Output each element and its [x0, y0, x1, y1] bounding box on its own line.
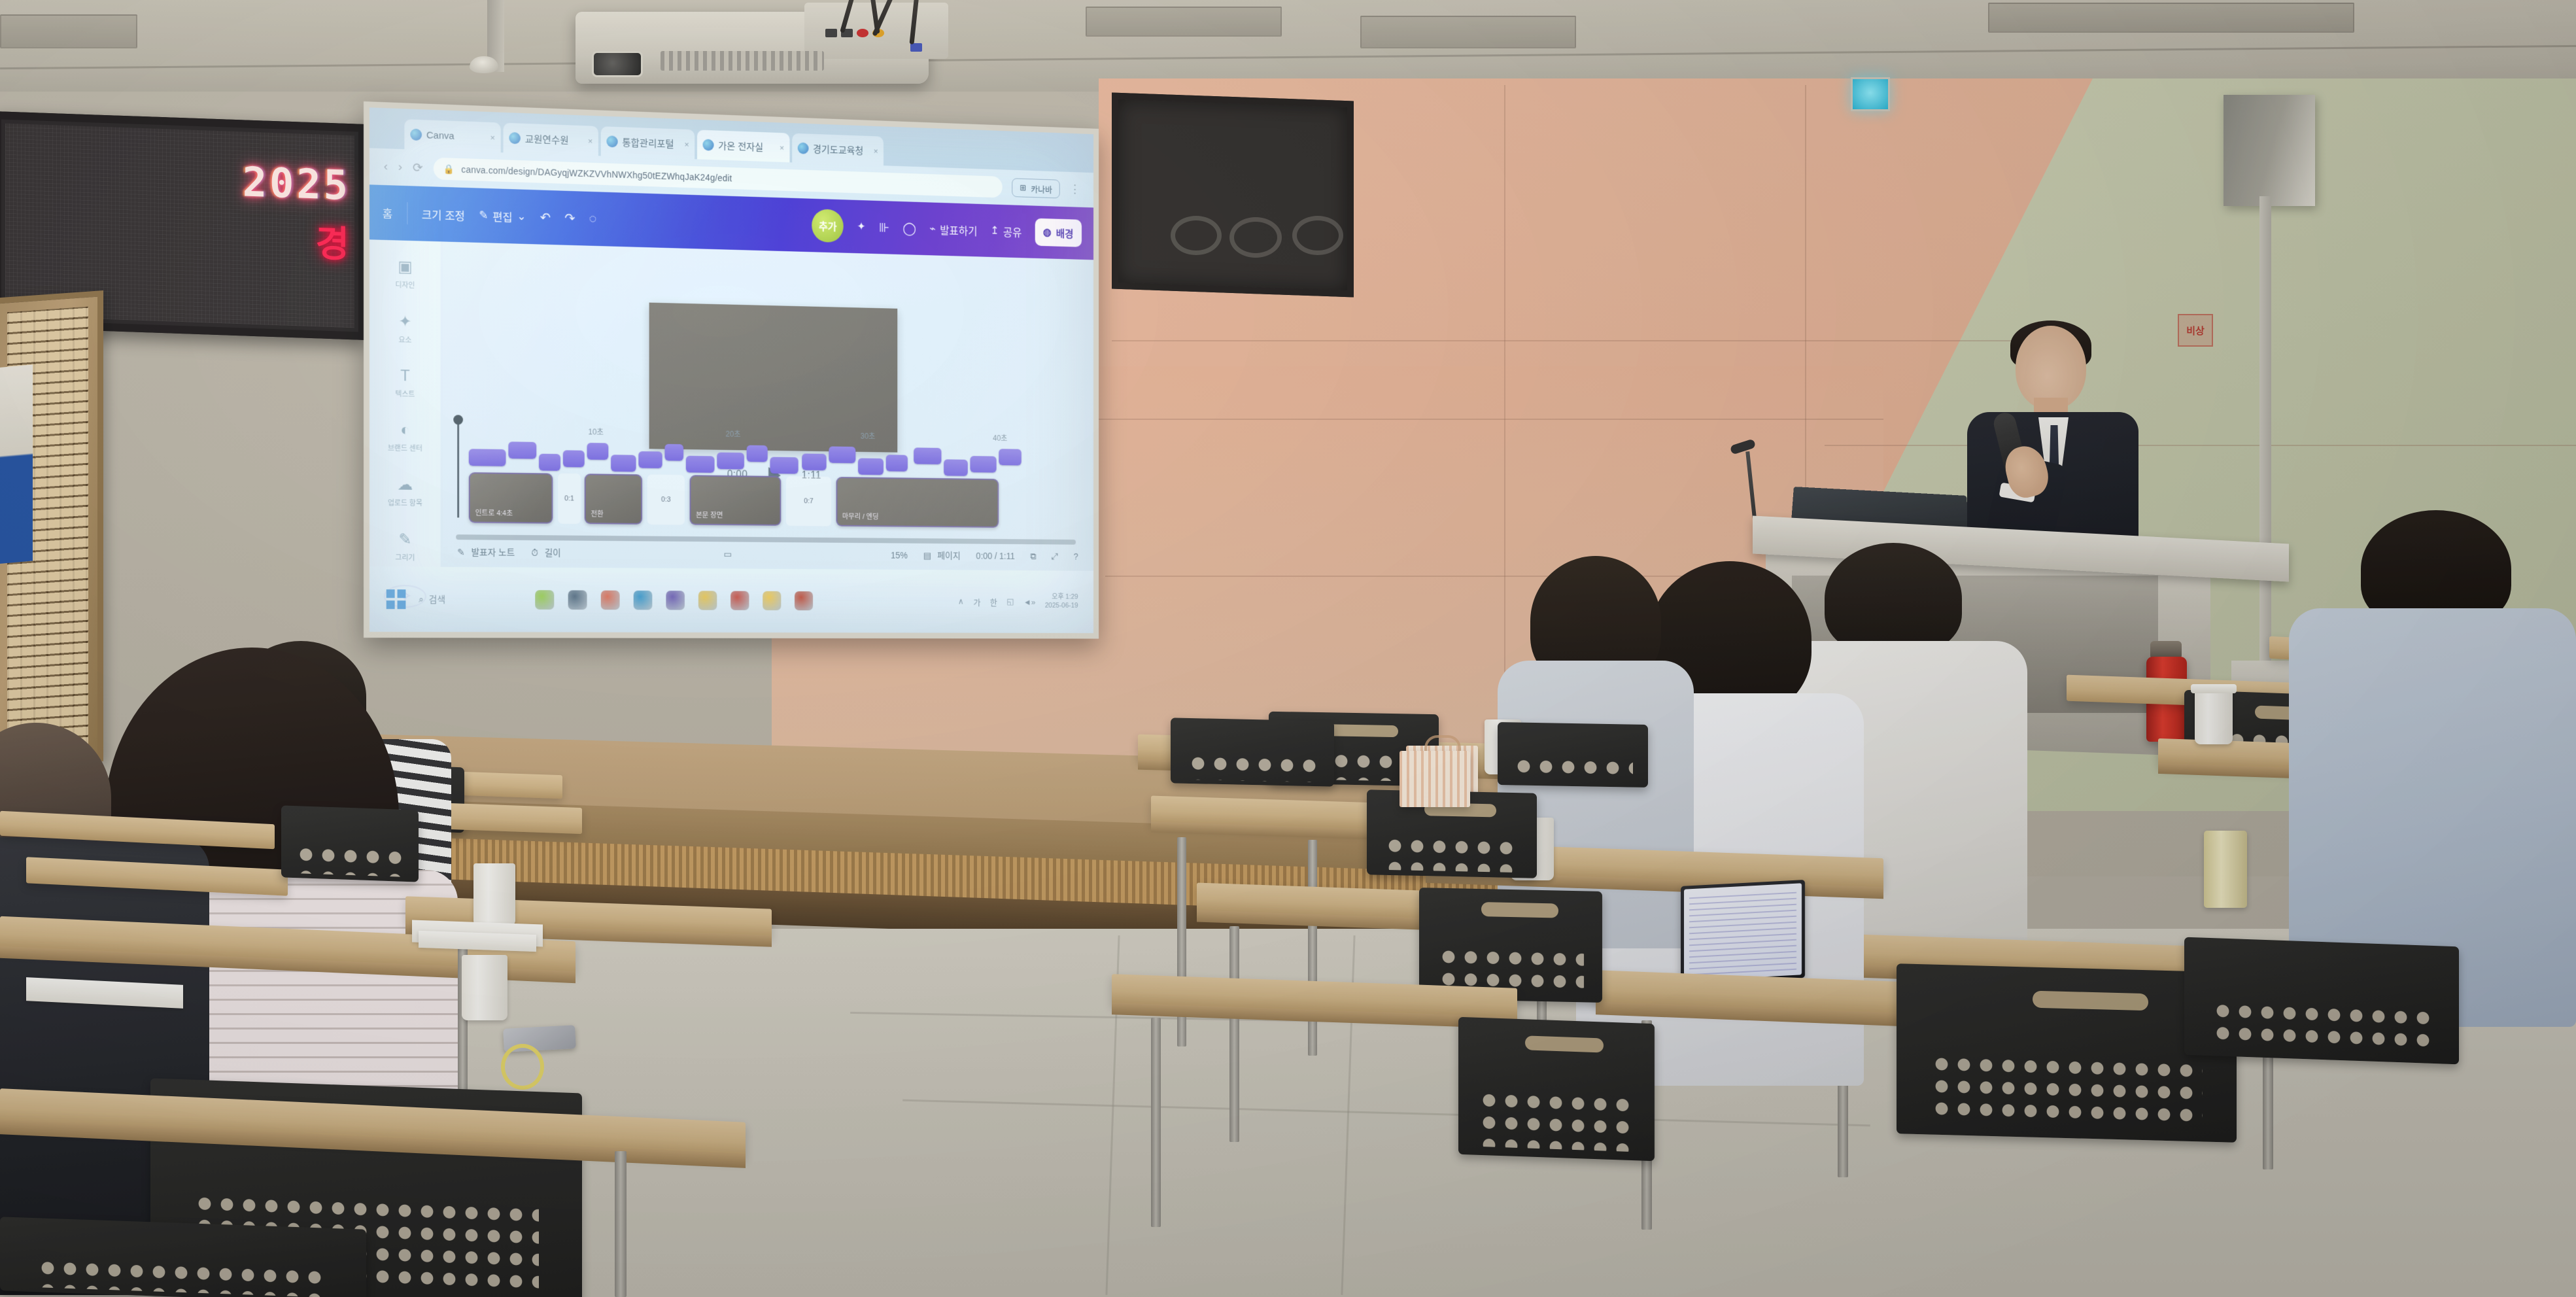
tab-label: 경기도교육청 [813, 142, 863, 157]
install-app-button[interactable]: ⊞ 카나바 [1012, 178, 1059, 198]
timeline-text-chip[interactable] [587, 443, 609, 460]
gift-box [1400, 751, 1470, 807]
sidebar-item-uploads[interactable]: ☁ 업로드 항목 [388, 475, 422, 508]
sidebar-label: 요소 [398, 334, 411, 345]
chair-perforation [1384, 834, 1520, 873]
chair-handle-slot [1525, 1036, 1604, 1053]
edge-icon[interactable] [633, 591, 652, 610]
ceiling-vent [1360, 16, 1576, 48]
timeline-text-chip[interactable] [829, 446, 855, 463]
chair-perforation [37, 1256, 330, 1297]
chrome2-icon[interactable] [730, 591, 749, 610]
favicon-icon [606, 135, 617, 147]
browser-tab-4[interactable]: 경기도교육청 × [792, 133, 884, 165]
ceiling-dome-light [470, 56, 498, 73]
chair [281, 805, 419, 882]
edit-label: 편집 [492, 208, 513, 225]
forward-icon[interactable]: › [398, 160, 402, 175]
timeline-clip[interactable]: 마무리 / 엔딩 [836, 477, 999, 528]
present-glyph-icon: ⌁ [929, 222, 935, 235]
ime-indicator[interactable]: 가 [973, 596, 980, 608]
sidebar-item-brand[interactable]: ◐ 브랜드 센터 [388, 421, 422, 454]
beverage-can [2204, 831, 2247, 908]
browser-tab-0[interactable]: Canva × [404, 119, 500, 152]
text-icon: T [400, 367, 409, 385]
sidebar-item-design[interactable]: ▣ 디자인 [395, 257, 415, 290]
share-icon: ↥ [991, 224, 999, 237]
taskbar-app-icons [535, 590, 813, 610]
chair [1171, 718, 1334, 786]
paper-cup [2195, 688, 2233, 744]
projector-port [825, 29, 837, 37]
timeline-gap[interactable]: 0:1 [558, 474, 581, 524]
canva-status-bar: ✎ 발표자 노트 ⏱ 길이 ▭ 15% ▤ 페이지 0:00 / 1:11 ⧉ … [441, 537, 1093, 571]
chair-perforation [295, 843, 405, 877]
wall-board-ring [1292, 216, 1343, 255]
duration-label: 길이 [545, 546, 561, 559]
system-tray: ∧ 가 한 ◱ ◄» 오후 1:29 2025-06-19 [958, 593, 1078, 610]
teams-icon[interactable] [666, 591, 685, 610]
sparkle-icon[interactable]: ✦ [857, 220, 865, 233]
timeline-text-chip[interactable] [469, 449, 506, 466]
file-explorer-icon[interactable] [568, 590, 587, 610]
lanyard-ring [501, 1044, 544, 1090]
redo-icon[interactable]: ↷ [564, 210, 575, 226]
canva-timeline: 10초 20초 30초 40초 인트로 4:4초전환본문 장면마무리 / 엔딩0… [441, 420, 1093, 540]
start-button-icon[interactable] [386, 589, 406, 609]
tab-label: Canva [426, 130, 455, 141]
chair [0, 1217, 366, 1297]
clock-time: 오후 1:29 [1045, 593, 1078, 602]
timeline-mark-30s: 30초 [861, 430, 876, 441]
add-page-icon[interactable]: ▭ [723, 549, 732, 560]
tab-label: 가온 전자실 [718, 139, 763, 154]
reload-icon[interactable]: ⟳ [413, 160, 423, 175]
tablet[interactable] [1681, 880, 1805, 984]
timeline-clip[interactable]: 인트로 4:4초 [469, 472, 553, 524]
chair-perforation [2212, 999, 2431, 1056]
timeline-text-chip[interactable] [664, 444, 683, 461]
chrome-icon[interactable] [698, 591, 716, 610]
favicon-icon [410, 129, 422, 141]
sidebar-label: 브랜드 센터 [388, 443, 422, 454]
timeline-text-chip[interactable] [970, 456, 996, 472]
wall-mounted-speaker [2224, 95, 2315, 206]
timeline-clip-label: 전환 [591, 509, 603, 519]
taskbar-clock[interactable]: 오후 1:29 2025-06-19 [1045, 593, 1078, 610]
notes-label: 발표자 노트 [471, 545, 515, 559]
sidebar-item-draw[interactable]: ✎ 그리기 [395, 530, 415, 562]
zoom-level[interactable]: 15% [891, 550, 908, 561]
ceiling-vent [1988, 3, 2354, 33]
timeline-text-chip[interactable] [770, 457, 798, 474]
timeline-clip-label: 인트로 4:4초 [475, 508, 513, 518]
timeline-text-chip[interactable] [999, 449, 1022, 465]
sidebar-item-text[interactable]: T 텍스트 [395, 367, 415, 399]
chair-perforation [1478, 1089, 1635, 1152]
panel-seam [1112, 340, 2060, 341]
desk-leg [615, 1151, 627, 1297]
timeline-clip[interactable]: 본문 장면 [690, 475, 781, 526]
projection-screen: Canva × 교원연수원 × 통합관리포털 × 가온 전자실 × [364, 101, 1099, 639]
background-swatch-icon: ◍ [1043, 226, 1052, 239]
led-sign-char: 경 [315, 214, 349, 268]
toolbar-divider [407, 202, 407, 224]
notes-pencil-icon: ✎ [457, 547, 465, 558]
panel-seam [1825, 445, 2576, 446]
timeline-clip-label: 본문 장면 [696, 510, 723, 520]
timeline-gap[interactable]: 0:7 [786, 476, 831, 526]
chair [2184, 937, 2459, 1065]
chair-handle-slot [1326, 724, 1398, 737]
copilot-icon[interactable] [535, 590, 554, 610]
timeline-mark-20s: 20초 [726, 428, 741, 440]
timeline-text-chip[interactable] [717, 453, 744, 470]
timeline-text-chip[interactable] [944, 459, 968, 476]
wall-board-ring [1171, 216, 1222, 255]
presenter-head [2016, 326, 2086, 409]
speaker-notes-button[interactable]: ✎ 발표자 노트 [457, 545, 515, 559]
chair-perforation [1513, 755, 1633, 784]
comment-icon[interactable]: ◯ [902, 220, 916, 237]
duration-clock-icon: ⏱ [531, 547, 538, 558]
desk-leg [1151, 1018, 1161, 1227]
tab-close-icon[interactable]: × [588, 136, 592, 146]
back-icon[interactable]: ‹ [384, 160, 388, 174]
canva-sidebar-rail: ▣ 디자인 ✦ 요소 T 텍스트 ◐ 브랜드 센터 ☁ 업로드 항목 [369, 239, 441, 566]
ime-mode-indicator[interactable]: 한 [990, 596, 997, 608]
tray-chevron-icon[interactable]: ∧ [958, 597, 964, 606]
duration-button[interactable]: ⏱ 길이 [531, 546, 560, 559]
chart-icon[interactable]: ⊪ [879, 219, 889, 235]
tab-label: 교원연수원 [525, 131, 569, 147]
projector-vent [661, 51, 824, 71]
address-text: canva.com/design/DAGyqjWZKZVVhNWXhg50tEZ… [461, 164, 732, 183]
desk-leg [1308, 840, 1317, 1056]
install-label: 카나바 [1031, 182, 1052, 195]
favicon-icon [509, 132, 521, 144]
wall-board-ring [1229, 217, 1282, 258]
projected-desktop: Canva × 교원연수원 × 통합관리포털 × 가온 전자실 × [369, 107, 1093, 633]
tablet-content-lines [1689, 889, 1796, 976]
canva-edit-button[interactable]: ✎ 편집 ⌄ [479, 207, 526, 225]
exit-sign: 비상 [2178, 314, 2213, 347]
sidebar-label: 디자인 [395, 279, 415, 290]
flag [0, 365, 33, 564]
canva-home-button[interactable]: 홈 [383, 204, 392, 220]
gift-box-handle [1424, 735, 1461, 751]
timeline-text-chip[interactable] [886, 455, 908, 472]
favicon-icon [703, 139, 714, 150]
desk-leg [1229, 926, 1239, 1142]
chair-handle-slot [2033, 991, 2148, 1011]
timeline-gap[interactable]: 0:3 [647, 474, 685, 525]
undo-icon[interactable]: ↶ [540, 209, 551, 226]
timeline-text-chip[interactable] [747, 445, 768, 462]
status-indicator-light [1851, 77, 1890, 111]
pages-label: 페이지 [937, 549, 960, 562]
timeline-text-chip[interactable] [802, 453, 826, 470]
upload-cloud-icon: ☁ [398, 476, 413, 494]
ceiling-vent [0, 14, 137, 48]
chair-perforation [1187, 752, 1318, 782]
browser-tab-1[interactable]: 교원연수원 × [504, 123, 598, 156]
timeline-text-chip[interactable] [563, 450, 585, 467]
browser-tab-3-active[interactable]: 가온 전자실 × [697, 130, 790, 162]
timeline-text-chip[interactable] [858, 458, 884, 475]
background-label: 배경 [1056, 225, 1074, 241]
timeline-text-chip[interactable] [539, 454, 560, 471]
search-label: 검색 [429, 593, 445, 606]
sidebar-item-elements[interactable]: ✦ 요소 [398, 312, 411, 345]
sidebar-label: 업로드 항목 [388, 497, 422, 508]
timeline-text-chip[interactable] [611, 455, 636, 472]
led-sign-year: 2025 [243, 158, 351, 209]
fullscreen-icon[interactable]: ⤢ [1052, 551, 1058, 561]
chevron-down-icon: ⌄ [517, 210, 526, 223]
sidebar-label: 그리기 [395, 552, 415, 562]
timeline-clip-label: 마무리 / 엔딩 [842, 511, 879, 521]
timeline-text-chip[interactable] [638, 451, 662, 468]
lock-icon: 🔒 [443, 164, 455, 175]
present-label: 발표하기 [940, 221, 977, 238]
canva-present-button[interactable]: ⌁ 발표하기 [929, 221, 977, 238]
wall-board [1112, 93, 1354, 298]
timeline-text-chip[interactable] [914, 447, 941, 464]
tab-label: 통합관리포털 [622, 135, 674, 150]
tab-close-icon[interactable]: × [490, 132, 494, 142]
cloud-saved-icon: ◌ [589, 211, 596, 226]
chair [1458, 1017, 1655, 1161]
canva-share-button[interactable]: ↥ 공유 [991, 223, 1022, 239]
status-spacer [577, 553, 708, 553]
grid-view-icon[interactable]: ⧉ [1030, 551, 1036, 561]
pages-icon: ▤ [923, 550, 931, 561]
notes-icon[interactable] [763, 591, 781, 610]
browser-tab-2[interactable]: 통합관리포털 × [601, 126, 695, 159]
favicon-icon [798, 143, 809, 154]
pdf-icon[interactable] [795, 591, 813, 610]
timeline-text-chip[interactable] [508, 441, 536, 458]
projector-lens [592, 51, 643, 77]
projector-port-red [857, 29, 868, 37]
lecture-hall-photo: 비상 2025 경 Canva × [0, 0, 2576, 1297]
timeline-mark-10s: 10초 [588, 426, 603, 437]
search-icon: ⌕ [419, 594, 424, 605]
chair-handle-slot [1481, 902, 1558, 918]
network-icon[interactable]: ◱ [1006, 597, 1014, 606]
tab-close-icon[interactable]: × [874, 146, 878, 156]
timeline-playhead[interactable] [457, 420, 459, 517]
chair-perforation [1931, 1053, 2203, 1132]
tab-close-icon[interactable]: × [780, 143, 784, 152]
elements-icon: ✦ [398, 312, 411, 331]
projector-port-vga [910, 43, 922, 52]
design-icon: ▣ [398, 257, 412, 277]
tablet-screen[interactable] [1684, 883, 1802, 980]
ceiling-vent [1086, 7, 1282, 37]
tab-close-icon[interactable]: × [684, 139, 689, 149]
chair [1498, 722, 1648, 787]
sidebar-label: 텍스트 [395, 389, 415, 399]
office-icon[interactable] [600, 591, 619, 610]
audience-hair [1825, 543, 1962, 654]
canva-resize-button[interactable]: 크기 조정 [422, 205, 465, 223]
toolbar-spacer [610, 219, 798, 225]
draw-pen-icon: ✎ [398, 530, 411, 549]
brand-icon: ◐ [400, 421, 409, 440]
share-label: 공유 [1003, 223, 1022, 239]
clock-date: 2025-06-19 [1045, 602, 1078, 610]
canva-background-button[interactable]: ◍ 배경 [1035, 218, 1082, 247]
timecode: 0:00 / 1:11 [976, 551, 1014, 561]
install-icon: ⊞ [1020, 182, 1026, 193]
pages-button[interactable]: ▤ 페이지 [923, 549, 961, 562]
paper-cup [462, 955, 507, 1020]
status-spacer-2 [748, 554, 875, 555]
timeline-clip[interactable]: 전환 [585, 474, 642, 525]
help-icon[interactable]: ? [1074, 551, 1078, 561]
timeline-text-chip[interactable] [686, 456, 715, 473]
browser-menu-icon[interactable]: ⋮ [1069, 182, 1080, 197]
paper-cup [473, 863, 515, 926]
volume-icon[interactable]: ◄» [1023, 597, 1035, 606]
canva-add-button[interactable]: 추가 [812, 209, 844, 243]
timeline-mark-40s: 40초 [993, 432, 1007, 443]
pencil-icon: ✎ [479, 209, 488, 222]
cup-lid [2191, 684, 2237, 693]
taskbar-search[interactable]: ⌕ 검색 [419, 593, 445, 606]
windows-taskbar: ⌕ 검색 ∧ 가 한 ◱ ◄» 오후 1:29 2025-06-19 [369, 566, 1093, 633]
timeline-clip-track: 인트로 4:4초전환본문 장면마무리 / 엔딩0:10:30:7 [469, 472, 1086, 532]
